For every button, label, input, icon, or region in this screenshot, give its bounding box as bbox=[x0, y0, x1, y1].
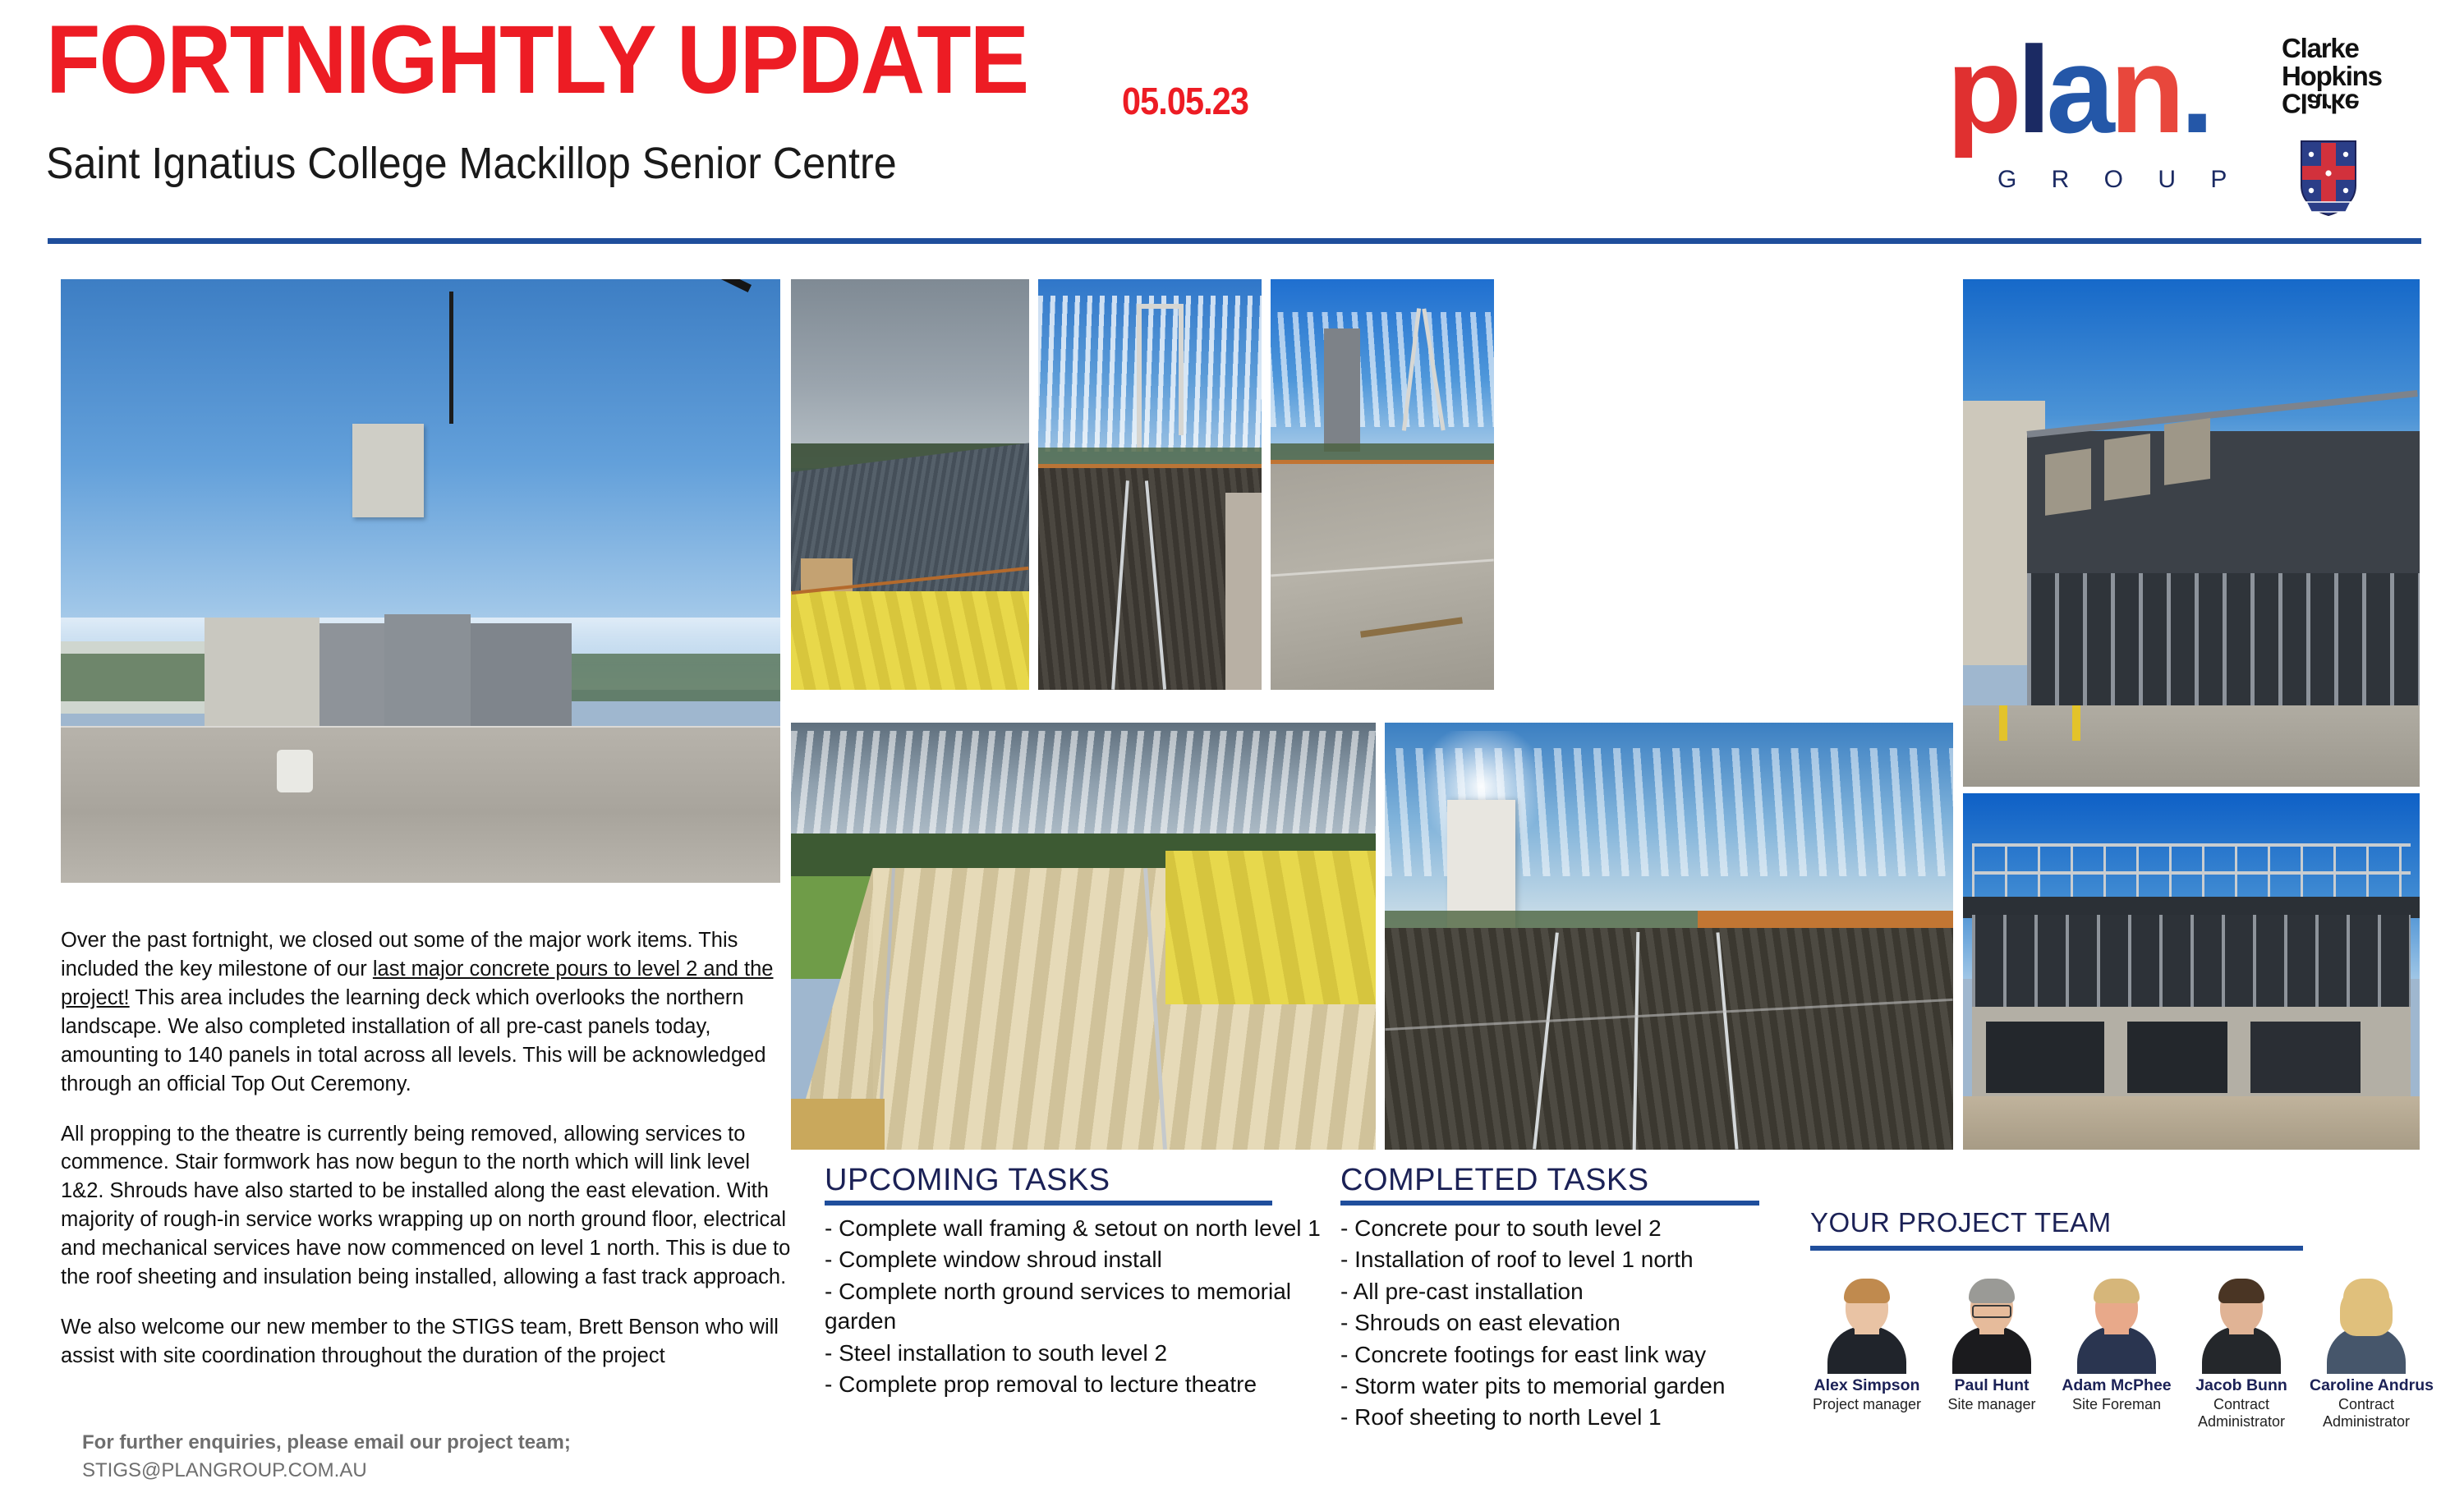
completed-tasks-list: - Concrete pour to south level 2 - Insta… bbox=[1340, 1214, 1800, 1433]
list-item: - Complete window shroud install bbox=[825, 1245, 1334, 1274]
avatar bbox=[2321, 1269, 2411, 1374]
team-member-name: Jacob Bunn bbox=[2185, 1377, 2298, 1394]
chc-line-2: Hopkins bbox=[2282, 61, 2382, 91]
plan-logo-letter-l: l bbox=[2017, 21, 2047, 158]
avatar-hair bbox=[2343, 1279, 2389, 1303]
photo-concrete-pump-rebar bbox=[1038, 279, 1262, 690]
body-paragraph-2: All propping to the theatre is currently… bbox=[61, 1120, 792, 1293]
logo-group: plan. G R O U P Clarke Hopkins Clarke bbox=[1947, 16, 2448, 222]
avatar bbox=[2196, 1269, 2287, 1374]
contact-prompt: For further enquiries, please email our … bbox=[82, 1429, 739, 1457]
list-item: - Steel installation to south level 2 bbox=[825, 1339, 1334, 1368]
chc-line-3: Clarke bbox=[2282, 90, 2388, 117]
team-member-role: Site manager bbox=[1935, 1396, 2048, 1413]
team-member-role: Project manager bbox=[1810, 1396, 1924, 1413]
team-member: Alex SimpsonProject manager bbox=[1810, 1269, 1924, 1430]
plan-logo-letter-a: a bbox=[2046, 21, 2109, 158]
team-member: Jacob BunnContract Administrator bbox=[2185, 1269, 2298, 1430]
avatar bbox=[2071, 1269, 2162, 1374]
page-title: FORTNIGHTLY UPDATE bbox=[46, 11, 1027, 108]
team-member-role: Contract Administrator bbox=[2185, 1396, 2298, 1430]
photo-roof-deck-insulation bbox=[791, 723, 1376, 1150]
avatar-hair bbox=[1969, 1279, 2015, 1303]
plan-logo-dot: . bbox=[2180, 21, 2209, 158]
project-team-section: YOUR PROJECT TEAM Alex SimpsonProject ma… bbox=[1810, 1207, 2434, 1430]
team-member-role: Site Foreman bbox=[2060, 1396, 2173, 1413]
photo-rebar-deck-sunset bbox=[1385, 723, 1953, 1150]
update-date: 05.05.23 bbox=[1122, 79, 1248, 123]
plan-logo-letter-n: n bbox=[2110, 21, 2181, 158]
avatar-hair bbox=[1844, 1279, 1890, 1303]
header-divider bbox=[48, 238, 2421, 244]
list-item: - Installation of roof to level 1 north bbox=[1340, 1245, 1800, 1274]
list-item: - Roof sheeting to north Level 1 bbox=[1340, 1403, 1800, 1432]
list-item: - Complete wall framing & setout on nort… bbox=[825, 1214, 1334, 1243]
plan-group-logo: plan. G R O U P bbox=[1947, 28, 2275, 200]
project-team-heading: YOUR PROJECT TEAM bbox=[1810, 1207, 2434, 1238]
list-item: - Shrouds on east elevation bbox=[1340, 1308, 1800, 1338]
list-item: - Concrete pour to south level 2 bbox=[1340, 1214, 1800, 1243]
completed-tasks-heading: COMPLETED TASKS bbox=[1340, 1164, 1800, 1196]
team-member-name: Caroline Andrus bbox=[2310, 1377, 2423, 1394]
body-paragraph-3: We also welcome our new member to the ST… bbox=[61, 1313, 792, 1371]
plan-logo-letter-p: p bbox=[1947, 21, 2017, 158]
photo-concrete-pour-slab bbox=[1271, 279, 1494, 690]
photo-building-wide-view bbox=[1963, 793, 2420, 1150]
upcoming-tasks-list: - Complete wall framing & setout on nort… bbox=[825, 1214, 1334, 1399]
para1-part-b: This area includes the learning deck whi… bbox=[61, 986, 766, 1095]
completed-tasks-underline bbox=[1340, 1201, 1759, 1206]
team-member: Caroline AndrusContract Administrator bbox=[2310, 1269, 2423, 1430]
list-item: - Complete north ground services to memo… bbox=[825, 1277, 1334, 1337]
upcoming-tasks-underline bbox=[825, 1201, 1272, 1206]
list-item: - Storm water pits to memorial garden bbox=[1340, 1371, 1800, 1401]
body-paragraph-1: Over the past fortnight, we closed out s… bbox=[61, 926, 792, 1099]
team-member-role: Contract Administrator bbox=[2310, 1396, 2423, 1430]
list-item: - Concrete footings for east link way bbox=[1340, 1340, 1800, 1370]
completed-tasks-section: COMPLETED TASKS - Concrete pour to south… bbox=[1340, 1164, 1800, 1435]
project-team-members: Alex SimpsonProject managerPaul HuntSite… bbox=[1810, 1269, 2434, 1430]
chc-line-1: Clarke bbox=[2282, 34, 2359, 63]
clarke-hopkins-clarke-logo: Clarke Hopkins Clarke bbox=[2282, 34, 2388, 126]
contact-email[interactable]: STIGS@PLANGROUP.COM.AU bbox=[82, 1457, 739, 1485]
contact-footer: For further enquiries, please email our … bbox=[82, 1429, 739, 1485]
photo-steel-frame-facade bbox=[1963, 279, 2420, 787]
page-header: FORTNIGHTLY UPDATE 05.05.23 Saint Ignati… bbox=[0, 0, 2464, 242]
team-member-name: Adam McPhee bbox=[2060, 1377, 2173, 1394]
school-crest-icon bbox=[2298, 138, 2359, 217]
list-item: - Complete prop removal to lecture theat… bbox=[825, 1370, 1334, 1399]
list-item: - All pre-cast installation bbox=[1340, 1277, 1800, 1307]
upcoming-tasks-heading: UPCOMING TASKS bbox=[825, 1164, 1334, 1196]
project-team-underline bbox=[1810, 1246, 2303, 1251]
glasses-icon bbox=[1972, 1305, 2011, 1318]
avatar-hair bbox=[2094, 1279, 2140, 1303]
plan-logo-wordmark: plan. bbox=[1947, 28, 2209, 151]
team-member-name: Alex Simpson bbox=[1810, 1377, 1924, 1394]
team-member-name: Paul Hunt bbox=[1935, 1377, 2048, 1394]
photo-roof-sheeting-insulation bbox=[791, 279, 1029, 690]
upcoming-tasks-section: UPCOMING TASKS - Complete wall framing &… bbox=[825, 1164, 1334, 1401]
body-copy: Over the past fortnight, we closed out s… bbox=[61, 926, 792, 1392]
avatar-hair bbox=[2218, 1279, 2264, 1303]
plan-logo-group-text: G R O U P bbox=[1997, 166, 2241, 194]
avatar bbox=[1947, 1269, 2037, 1374]
avatar bbox=[1822, 1269, 1912, 1374]
team-member: Paul HuntSite manager bbox=[1935, 1269, 2048, 1430]
photo-precast-panel-lift bbox=[61, 279, 780, 883]
project-subtitle: Saint Ignatius College Mackillop Senior … bbox=[46, 138, 897, 189]
team-member: Adam McPheeSite Foreman bbox=[2060, 1269, 2173, 1430]
